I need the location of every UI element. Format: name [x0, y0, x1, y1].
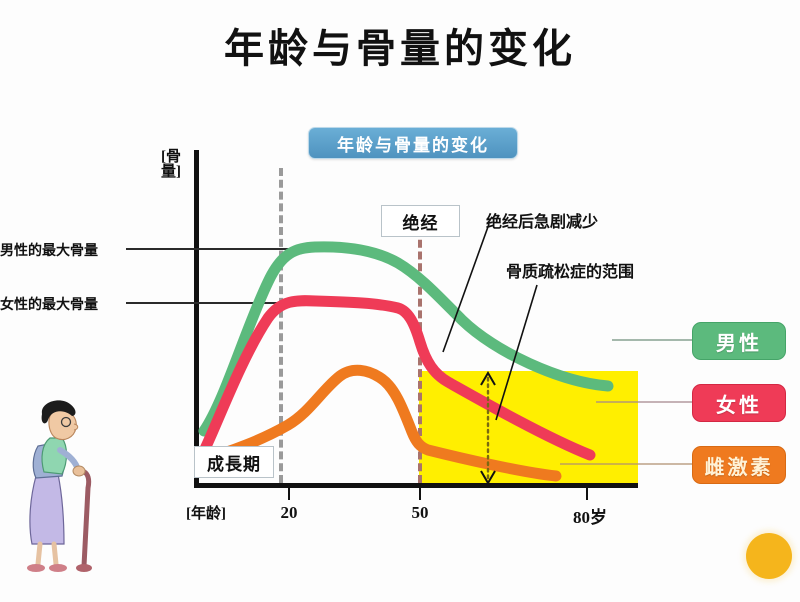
annotation-osteoporosis-range: 骨质疏松症的范围: [506, 258, 634, 282]
menopause-callout: 绝经: [381, 205, 460, 237]
x-tick-20: [288, 488, 290, 500]
legend-item-estrogen[interactable]: 雌激素: [692, 446, 786, 484]
legend-item-male[interactable]: 男性: [692, 322, 786, 360]
growth-period-callout: 成長期: [194, 446, 274, 478]
growth-period-marker-line: [279, 168, 283, 483]
annotation-sharp-decline: 绝经后急剧减少: [486, 208, 598, 232]
x-tick-80: [586, 488, 588, 500]
y-axis: [194, 150, 199, 488]
page-title: 年龄与骨量的变化: [0, 16, 800, 74]
y-axis-label: [骨量]: [160, 150, 182, 180]
female-max-label: 女性的最大骨量: [0, 294, 98, 314]
decorative-dot: [746, 533, 792, 579]
elderly-woman-illustration: [18, 398, 104, 578]
x-tick-50: [419, 488, 421, 500]
chart-title-banner: 年龄与骨量的变化: [308, 127, 518, 159]
female-max-reference-line: [126, 302, 336, 304]
x-tick-label-20: 20: [281, 503, 298, 523]
x-axis: [194, 483, 638, 488]
male-max-reference-line: [126, 248, 336, 250]
legend-item-female[interactable]: 女性: [692, 384, 786, 422]
male-max-label: 男性的最大骨量: [0, 240, 98, 260]
x-tick-label-80: 80岁: [573, 503, 607, 528]
x-axis-label: [年龄]: [186, 502, 226, 523]
x-tick-label-50: 50: [412, 503, 429, 523]
menopause-marker-line: [418, 228, 422, 483]
osteoporosis-zone: [419, 371, 638, 483]
slide-canvas: 年龄与骨量的变化 年龄与骨量的变化 [骨量] [年龄] 20 50 80岁 男性…: [0, 0, 800, 602]
curves-layer: [0, 0, 800, 602]
annotation-leader-1: [443, 224, 489, 352]
